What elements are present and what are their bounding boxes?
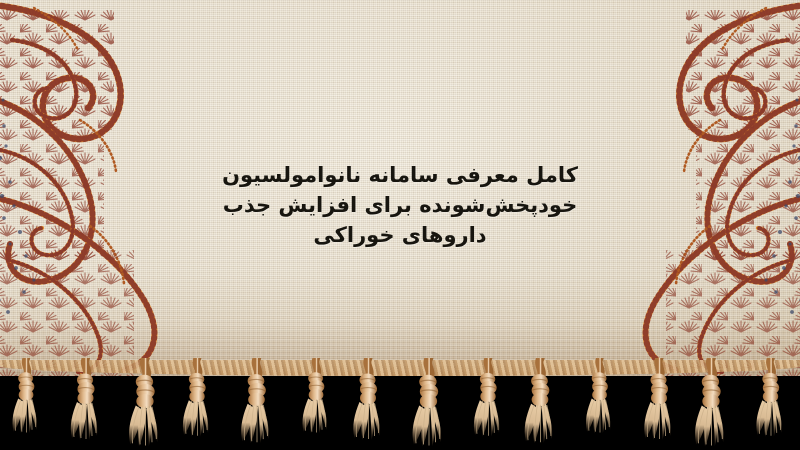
tassel [233,358,281,450]
tassel [175,358,219,446]
tassel [346,358,392,450]
title-line-3: داروهای خوراکی [0,220,800,250]
tassel [296,358,338,443]
tassel [404,358,454,450]
slide-title: کامل معرفی سامانه نانوامولسیون خودپخش‌شو… [0,160,800,250]
title-line-2: خودپخش‌شونده برای افزایش جذب [0,190,800,220]
slide-canvas: کامل معرفی سامانه نانوامولسیون خودپخش‌شو… [0,0,800,450]
tassel [749,358,793,446]
tassel [63,358,109,450]
title-line-1: کامل معرفی سامانه نانوامولسیون [0,160,800,190]
tassel [516,358,564,450]
tassel [121,358,171,450]
tassel [579,358,621,443]
tassel [466,358,510,446]
tassel [5,358,47,443]
tassel [687,358,737,450]
tassel [637,358,683,450]
tassel-fringe [0,358,800,450]
